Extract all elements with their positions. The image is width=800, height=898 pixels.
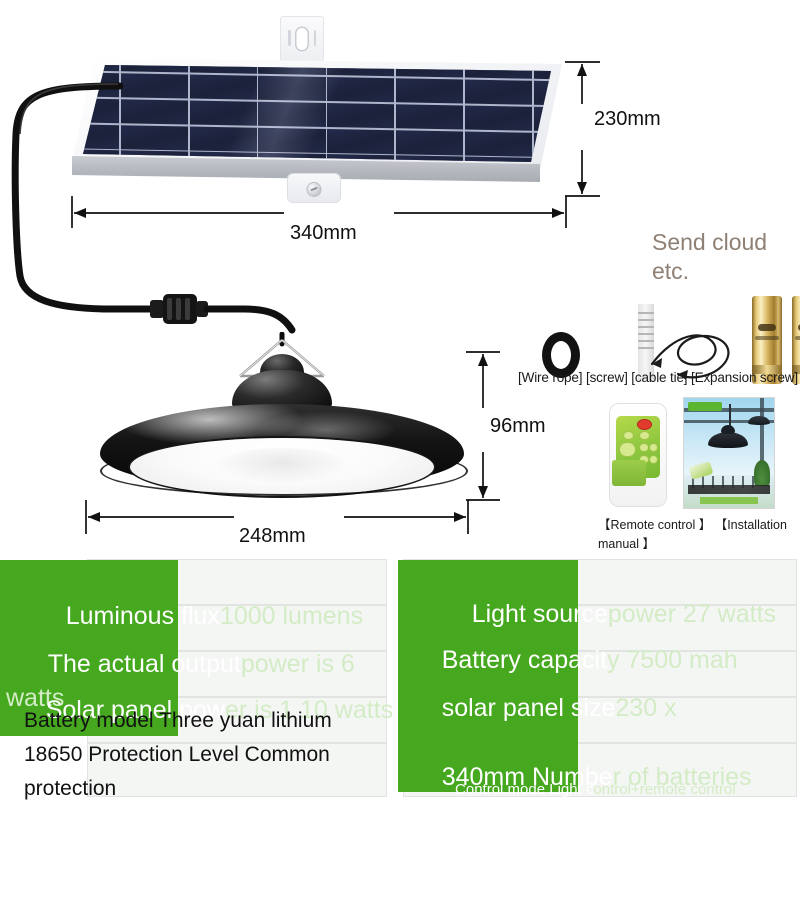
manual-brand-badge bbox=[688, 402, 722, 411]
dimension-label-lamp-height: 96mm bbox=[490, 415, 546, 438]
manual-lamp-cord bbox=[729, 404, 731, 426]
dimension-label-panel-height: 230mm bbox=[594, 108, 661, 131]
spec-row-battery-model: Battery model Three yuan lithium 18650 P… bbox=[24, 704, 384, 806]
spec-label: solar panel size bbox=[442, 694, 616, 722]
installation-manual-image bbox=[684, 398, 774, 508]
remote-control-image bbox=[610, 404, 666, 506]
manual-plant bbox=[754, 460, 770, 486]
spec-label: Control mode Light c bbox=[455, 781, 593, 798]
remote-lower-tab bbox=[612, 460, 646, 486]
manual-subtitle-bar bbox=[700, 497, 758, 504]
spec-value: 230 x bbox=[615, 694, 676, 722]
dimension-label-panel-width: 340mm bbox=[290, 222, 357, 245]
accessory-caption: [Wire rope] [screw] [cable tie] [Expansi… bbox=[518, 370, 800, 385]
product-spec-image: 230mm 340mm 96mm 248mm Send cloud etc. [… bbox=[0, 0, 800, 800]
manual-post bbox=[760, 398, 764, 468]
specifications-table: Luminous flux1000 lumens The actual outp… bbox=[0, 556, 800, 800]
dimension-label-lamp-diameter: 248mm bbox=[239, 525, 306, 548]
media-caption: 【Remote control 】 【Installation manual 】 bbox=[598, 516, 798, 554]
manual-title-bar bbox=[688, 485, 770, 494]
accessories-heading: Send cloud etc. bbox=[652, 228, 792, 287]
manual-lamp-secondary bbox=[748, 416, 770, 425]
spec-row-control-mode: Control mode Light control+remote contro… bbox=[430, 760, 790, 821]
spec-value: ontrol+remote control bbox=[593, 781, 735, 798]
spec-label-3: 3 bbox=[442, 832, 456, 860]
